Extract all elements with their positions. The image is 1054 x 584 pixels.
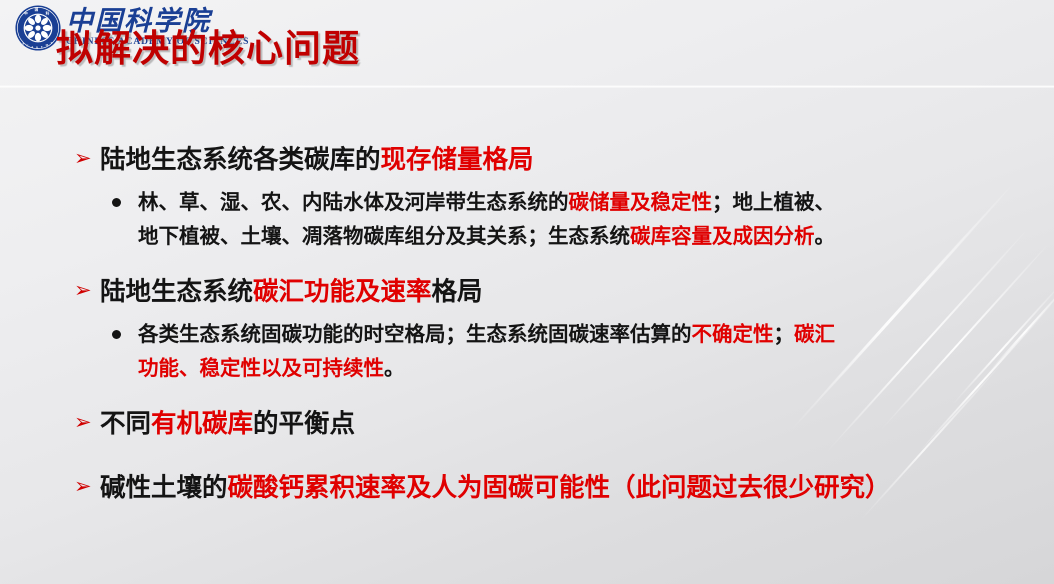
bullet-text-line: 功能、稳定性以及可持续性。 [138,352,1038,386]
text-run-emphasis: 碳汇 [794,323,835,346]
arrow-bullet-icon: ➢ [74,413,96,433]
header-divider [0,85,1054,88]
arrow-bullet-icon: ➢ [74,281,96,301]
text-run: 不同 [100,410,151,438]
bullet-text-line: 各类生态系统固碳功能的时空格局；生态系统固碳速率估算的不确定性；碳汇 [138,318,1038,352]
text-run-emphasis: 碳酸钙累积速率及人为固碳可能性（此问题过去很少研究） [228,474,891,502]
svg-text:C: C [26,45,28,48]
arrow-bullet-icon: ➢ [74,149,96,169]
bullet-item-level2: 各类生态系统固碳功能的时空格局；生态系统固碳速率估算的不确定性；碳汇功能、稳定性… [0,318,1054,386]
text-run-emphasis: 碳储量及稳定性 [569,191,713,214]
text-run: ；地上植被、 [712,191,835,214]
svg-text:国: 国 [35,7,39,12]
text-run-emphasis: 碳库容量及成因分析 [630,225,815,248]
text-run: 林、草、湿、农、内陆水体及河岸带生态系统的 [138,191,569,214]
bullet-text-level2: 各类生态系统固碳功能的时空格局；生态系统固碳速率估算的不确定性；碳汇功能、稳定性… [112,318,1038,386]
spacer [0,512,1054,532]
bullet-item-level2: 林、草、湿、农、内陆水体及河岸带生态系统的碳储量及稳定性；地上植被、地下植被、土… [0,186,1054,254]
text-run: 陆地生态系统 [100,278,253,306]
chinese-academy-of-sciences-emblem-icon: 中 国 科 ACA DEMY [14,4,62,52]
text-run: 。 [384,357,405,380]
svg-text:科: 科 [46,11,50,16]
dot-bullet-icon [112,198,121,207]
bullet-text-level1: 陆地生态系统各类碳库的现存储量格局 [72,140,1054,180]
svg-text:Y: Y [50,42,52,45]
svg-text:A: A [31,46,33,49]
spacer [0,448,1054,468]
spacer [0,260,1054,272]
text-run: 陆地生态系统各类碳库的 [100,146,381,174]
bullet-text-level1: 碱性土壤的碳酸钙累积速率及人为固碳可能性（此问题过去很少研究） [72,468,1054,508]
svg-text:E: E [41,46,43,49]
text-run-emphasis: 碳汇功能及速率 [253,278,432,306]
spacer [0,392,1054,404]
bullet-item-level1: ➢陆地生态系统各类碳库的现存储量格局 [0,140,1054,180]
text-run-emphasis: 功能、稳定性以及可持续性 [138,357,384,380]
text-run: 各类生态系统固碳功能的时空格局；生态系统固碳速率估算的 [138,323,692,346]
page-title: 拟解决的核心问题 [56,30,360,67]
text-run: 格局 [432,278,483,306]
text-run-emphasis: 不确定性 [692,323,774,346]
bullet-text-level2: 林、草、湿、农、内陆水体及河岸带生态系统的碳储量及稳定性；地上植被、地下植被、土… [112,186,1038,254]
svg-text:A: A [22,42,24,45]
text-run-emphasis: 现存储量格局 [381,146,534,174]
svg-text:中: 中 [24,11,28,16]
slide-body: ➢陆地生态系统各类碳库的现存储量格局林、草、湿、农、内陆水体及河岸带生态系统的碳… [0,140,1054,532]
bullet-item-level1: ➢不同有机碳库的平衡点 [0,404,1054,444]
bullet-text-level1: 陆地生态系统碳汇功能及速率格局 [72,272,1054,312]
bullet-item-level1: ➢碱性土壤的碳酸钙累积速率及人为固碳可能性（此问题过去很少研究） [0,468,1054,508]
text-run: 碱性土壤的 [100,474,228,502]
slide-header: 中 国 科 ACA DEMY 中国科学院 CHINESE ACADEMY OF … [0,0,1054,88]
dot-bullet-icon [112,330,121,339]
arrow-bullet-icon: ➢ [74,477,96,497]
text-run: 的平衡点 [253,410,355,438]
presentation-slide: 中 国 科 ACA DEMY 中国科学院 CHINESE ACADEMY OF … [0,0,1054,584]
bullet-text-line: 地下植被、土壤、凋落物碳库组分及其关系；生态系统碳库容量及成因分析。 [138,220,1038,254]
bullet-item-level1: ➢陆地生态系统碳汇功能及速率格局 [0,272,1054,312]
text-run: 。 [815,225,836,248]
bullet-text-line: 林、草、湿、农、内陆水体及河岸带生态系统的碳储量及稳定性；地上植被、 [138,186,1038,220]
svg-text:D: D [36,47,38,50]
text-run: 地下植被、土壤、凋落物碳库组分及其关系；生态系统 [138,225,630,248]
bullet-text-level1: 不同有机碳库的平衡点 [72,404,1054,444]
text-run: ； [774,323,795,346]
text-run-emphasis: 有机碳库 [151,410,253,438]
